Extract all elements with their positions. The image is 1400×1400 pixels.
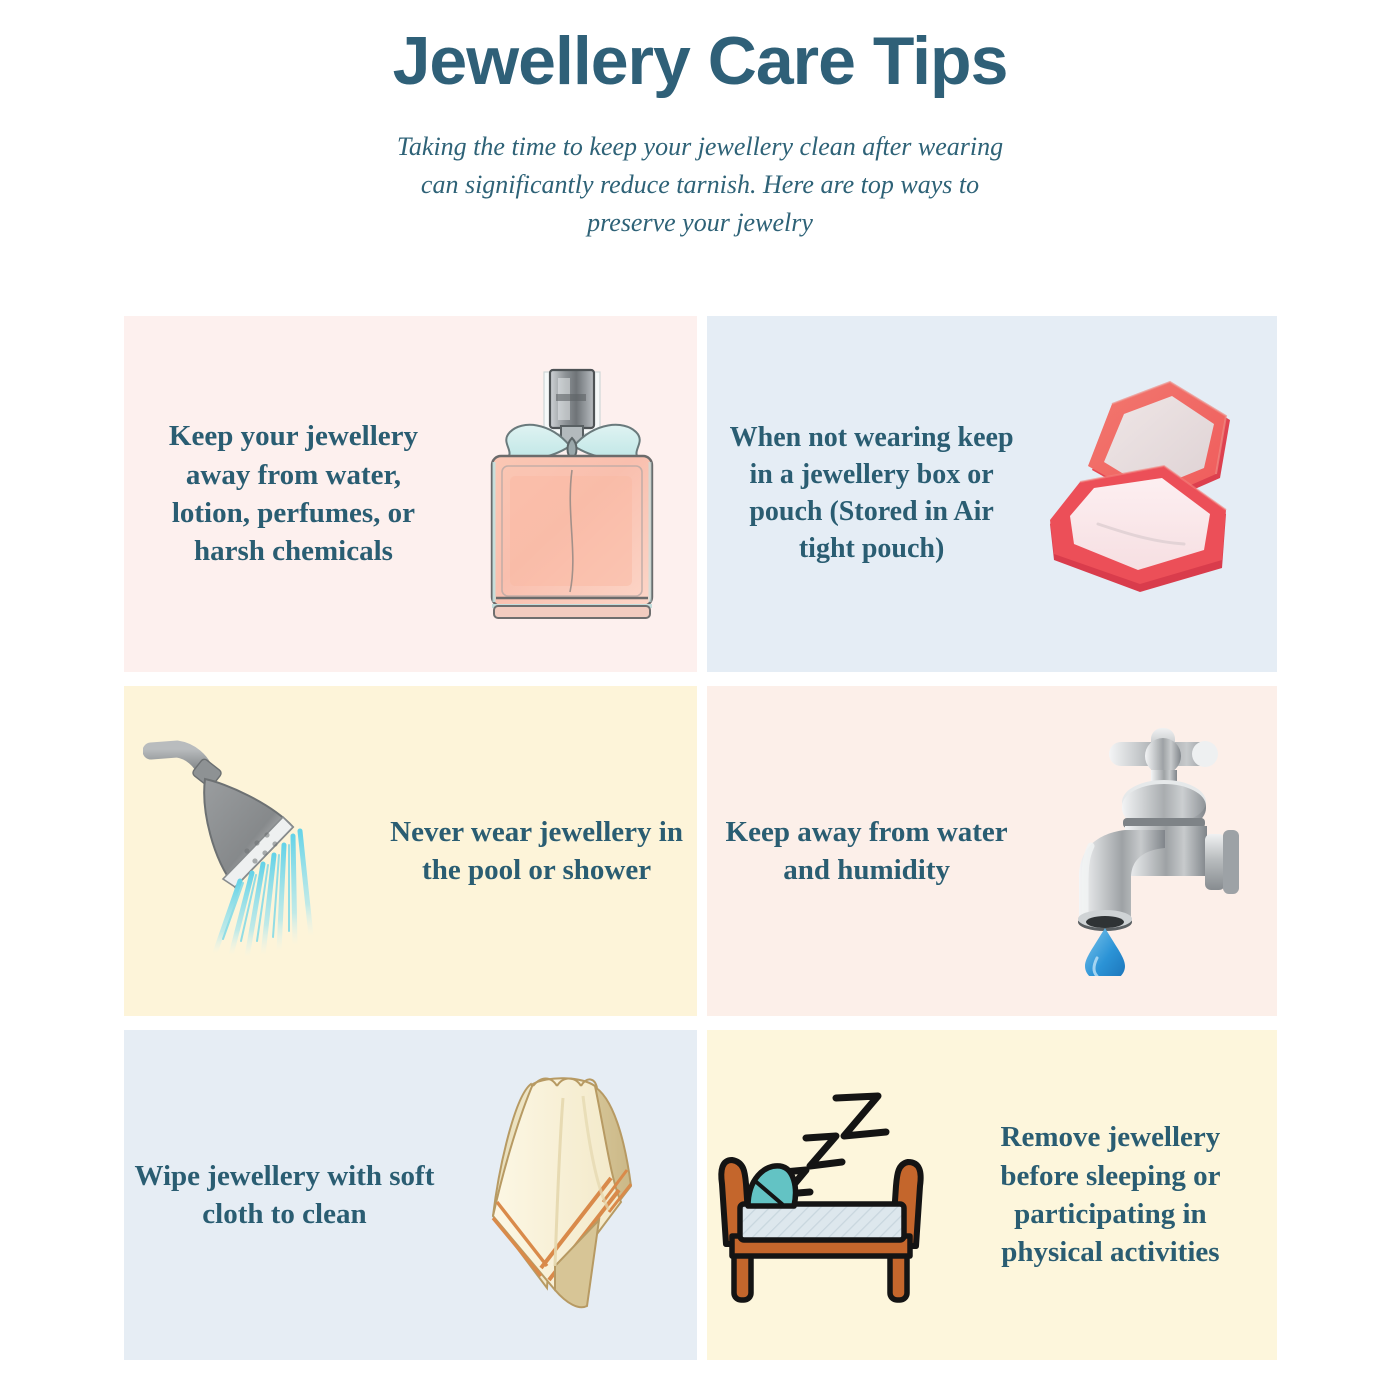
tip-card-away-from-water: Keep away from water and humidity (707, 686, 1277, 1016)
tip-text: Keep away from water and humidity (707, 813, 1026, 890)
tip-card-wipe-with-cloth: Wipe jewellery with soft cloth to clean (124, 1030, 697, 1360)
tip-text: Remove jewellery before sleeping or part… (958, 1118, 1277, 1271)
perfume-bottle-icon (445, 316, 697, 672)
ring-box-icon (1026, 316, 1277, 672)
cloth-icon (445, 1030, 697, 1360)
tip-card-no-pool-or-shower: Never wear jewellery in the pool or show… (124, 686, 697, 1016)
bed-sleeping-icon (707, 1030, 958, 1360)
tips-grid: Keep your jewellery away from water, lot… (124, 316, 1277, 1360)
header: Jewellery Care Tips Taking the time to k… (0, 0, 1400, 241)
tip-card-remove-before-sleeping: Remove jewellery before sleeping or part… (707, 1030, 1277, 1360)
tip-card-store-in-box: When not wearing keep in a jewellery box… (707, 316, 1277, 672)
infographic-page: Jewellery Care Tips Taking the time to k… (0, 0, 1400, 1400)
shower-head-icon (124, 686, 376, 1016)
tip-text: Keep your jewellery away from water, lot… (124, 417, 445, 570)
page-title: Jewellery Care Tips (0, 22, 1400, 100)
tip-card-away-from-chemicals: Keep your jewellery away from water, lot… (124, 316, 697, 672)
tip-text: Never wear jewellery in the pool or show… (376, 813, 697, 890)
tip-text: When not wearing keep in a jewellery box… (707, 420, 1026, 568)
page-subtitle: Taking the time to keep your jewellery c… (390, 128, 1010, 241)
faucet-icon (1026, 686, 1277, 1016)
tip-text: Wipe jewellery with soft cloth to clean (124, 1157, 445, 1234)
